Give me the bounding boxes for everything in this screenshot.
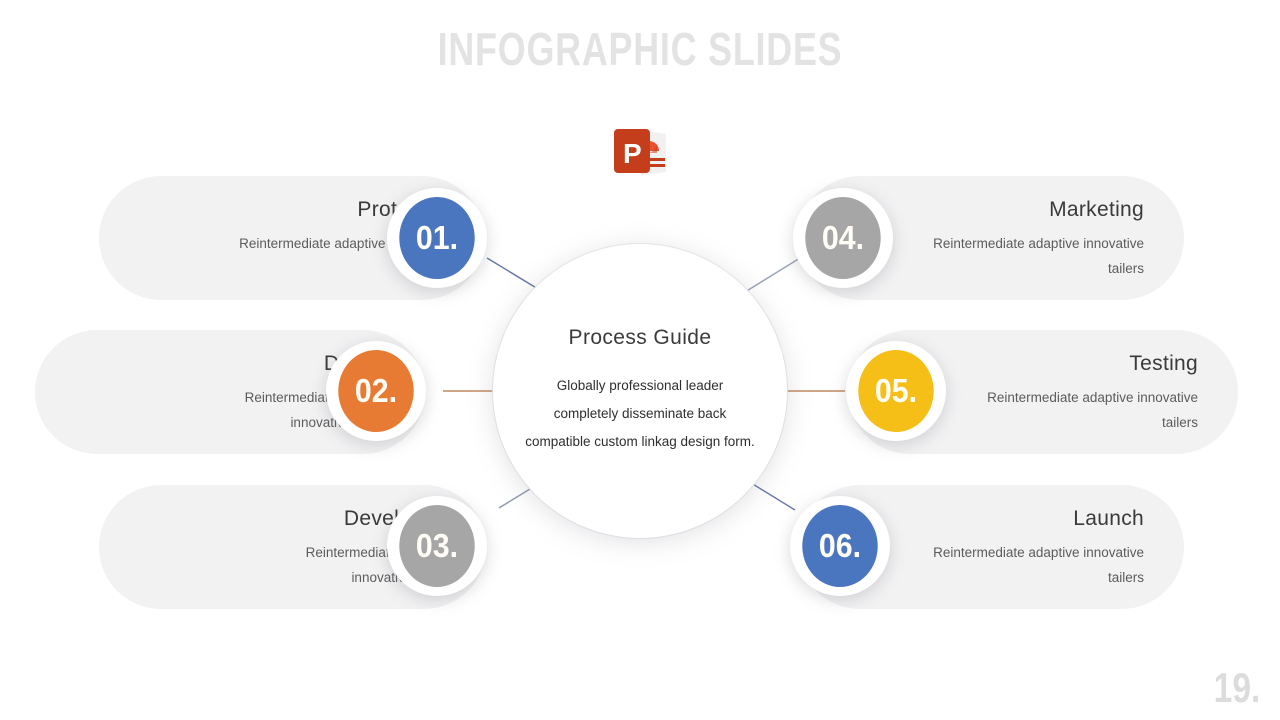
step-number-circle-06[interactable]: 06. (790, 496, 890, 596)
center-title: Process Guide (569, 326, 712, 350)
step-number-circle-05[interactable]: 05. (846, 341, 946, 441)
step-number-03: 03. (399, 505, 474, 587)
step-description-launch: Reintermediate adaptive innovative taile… (929, 540, 1144, 590)
svg-text:P: P (623, 138, 642, 169)
step-description-marketing: Reintermediate adaptive innovative taile… (929, 231, 1144, 281)
page-title: INFOGRAPHIC SLIDES (141, 22, 1139, 76)
page-number: 19. (1213, 664, 1260, 712)
powerpoint-icon: P (611, 125, 673, 180)
step-description-testing: Reintermediate adaptive innovative taile… (983, 385, 1198, 435)
step-number-05: 05. (858, 350, 933, 432)
center-hub: Process Guide Globally professional lead… (493, 244, 787, 538)
step-number-circle-02[interactable]: 02. (326, 341, 426, 441)
step-number-circle-04[interactable]: 04. (793, 188, 893, 288)
step-number-circle-03[interactable]: 03. (387, 496, 487, 596)
infographic-slide: INFOGRAPHIC SLIDES P Prototype Reinterme… (0, 0, 1280, 720)
step-number-04: 04. (805, 197, 880, 279)
step-number-circle-01[interactable]: 01. (387, 188, 487, 288)
step-number-01: 01. (399, 197, 474, 279)
connector-line-04 (745, 258, 800, 292)
step-number-06: 06. (802, 505, 877, 587)
step-number-02: 02. (338, 350, 413, 432)
center-body: Globally professional leader completely … (525, 372, 755, 456)
